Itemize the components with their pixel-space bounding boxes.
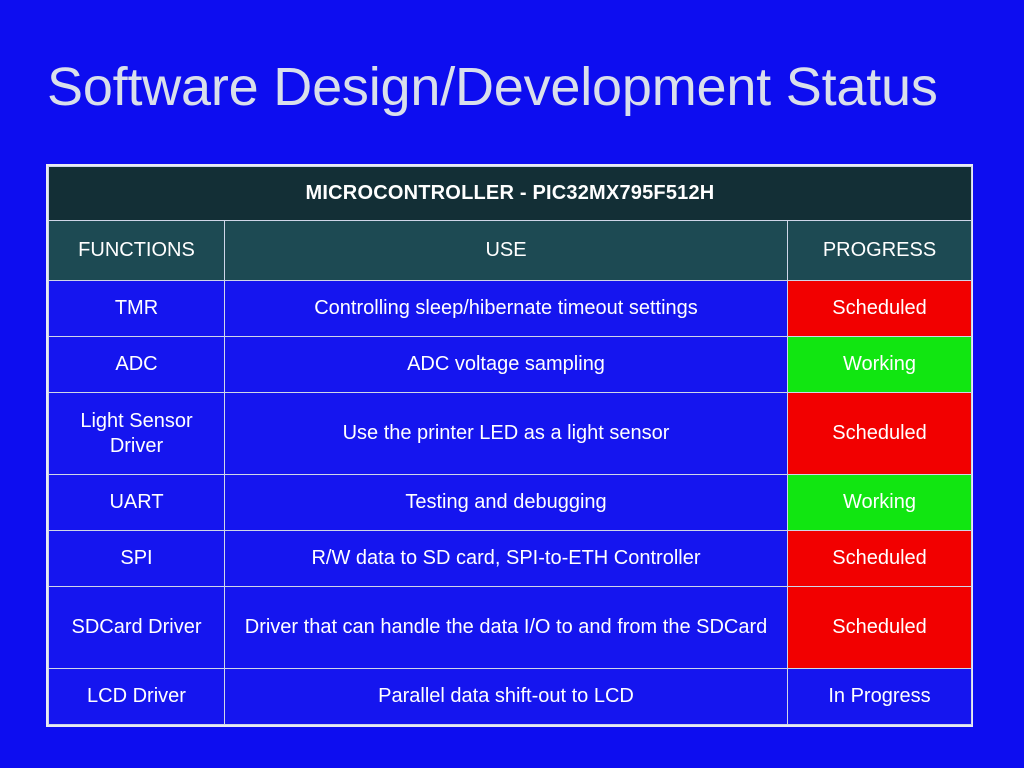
column-header-progress: PROGRESS	[788, 221, 972, 281]
status-badge: Scheduled	[788, 393, 972, 475]
cell-function: TMR	[49, 281, 225, 337]
cell-function: SDCard Driver	[49, 587, 225, 669]
status-table-container: MICROCONTROLLER - PIC32MX795F512H FUNCTI…	[46, 164, 973, 727]
cell-use: R/W data to SD card, SPI-to-ETH Controll…	[225, 531, 788, 587]
table-title-cell: MICROCONTROLLER - PIC32MX795F512H	[49, 167, 972, 221]
table-header-row: FUNCTIONS USE PROGRESS	[49, 221, 972, 281]
table-row: UART Testing and debugging Working	[49, 475, 972, 531]
table-row: ADC ADC voltage sampling Working	[49, 337, 972, 393]
cell-function: ADC	[49, 337, 225, 393]
table-row: LCD Driver Parallel data shift-out to LC…	[49, 669, 972, 725]
cell-use: Controlling sleep/hibernate timeout sett…	[225, 281, 788, 337]
status-table: MICROCONTROLLER - PIC32MX795F512H FUNCTI…	[48, 166, 972, 725]
cell-use: Use the printer LED as a light sensor	[225, 393, 788, 475]
cell-function: LCD Driver	[49, 669, 225, 725]
table-title-row: MICROCONTROLLER - PIC32MX795F512H	[49, 167, 972, 221]
table-row: SPI R/W data to SD card, SPI-to-ETH Cont…	[49, 531, 972, 587]
cell-function: Light Sensor Driver	[49, 393, 225, 475]
presentation-slide: Software Design/Development Status MICRO…	[0, 0, 1024, 768]
status-badge: Scheduled	[788, 531, 972, 587]
table-row: Light Sensor Driver Use the printer LED …	[49, 393, 972, 475]
column-header-functions: FUNCTIONS	[49, 221, 225, 281]
cell-use: Parallel data shift-out to LCD	[225, 669, 788, 725]
page-title: Software Design/Development Status	[47, 58, 987, 117]
status-badge: Scheduled	[788, 281, 972, 337]
column-header-use: USE	[225, 221, 788, 281]
status-badge: Working	[788, 337, 972, 393]
cell-use: Driver that can handle the data I/O to a…	[225, 587, 788, 669]
cell-function: SPI	[49, 531, 225, 587]
cell-function: UART	[49, 475, 225, 531]
cell-use: Testing and debugging	[225, 475, 788, 531]
status-badge: In Progress	[788, 669, 972, 725]
table-row: TMR Controlling sleep/hibernate timeout …	[49, 281, 972, 337]
status-badge: Working	[788, 475, 972, 531]
status-badge: Scheduled	[788, 587, 972, 669]
table-row: SDCard Driver Driver that can handle the…	[49, 587, 972, 669]
cell-use: ADC voltage sampling	[225, 337, 788, 393]
